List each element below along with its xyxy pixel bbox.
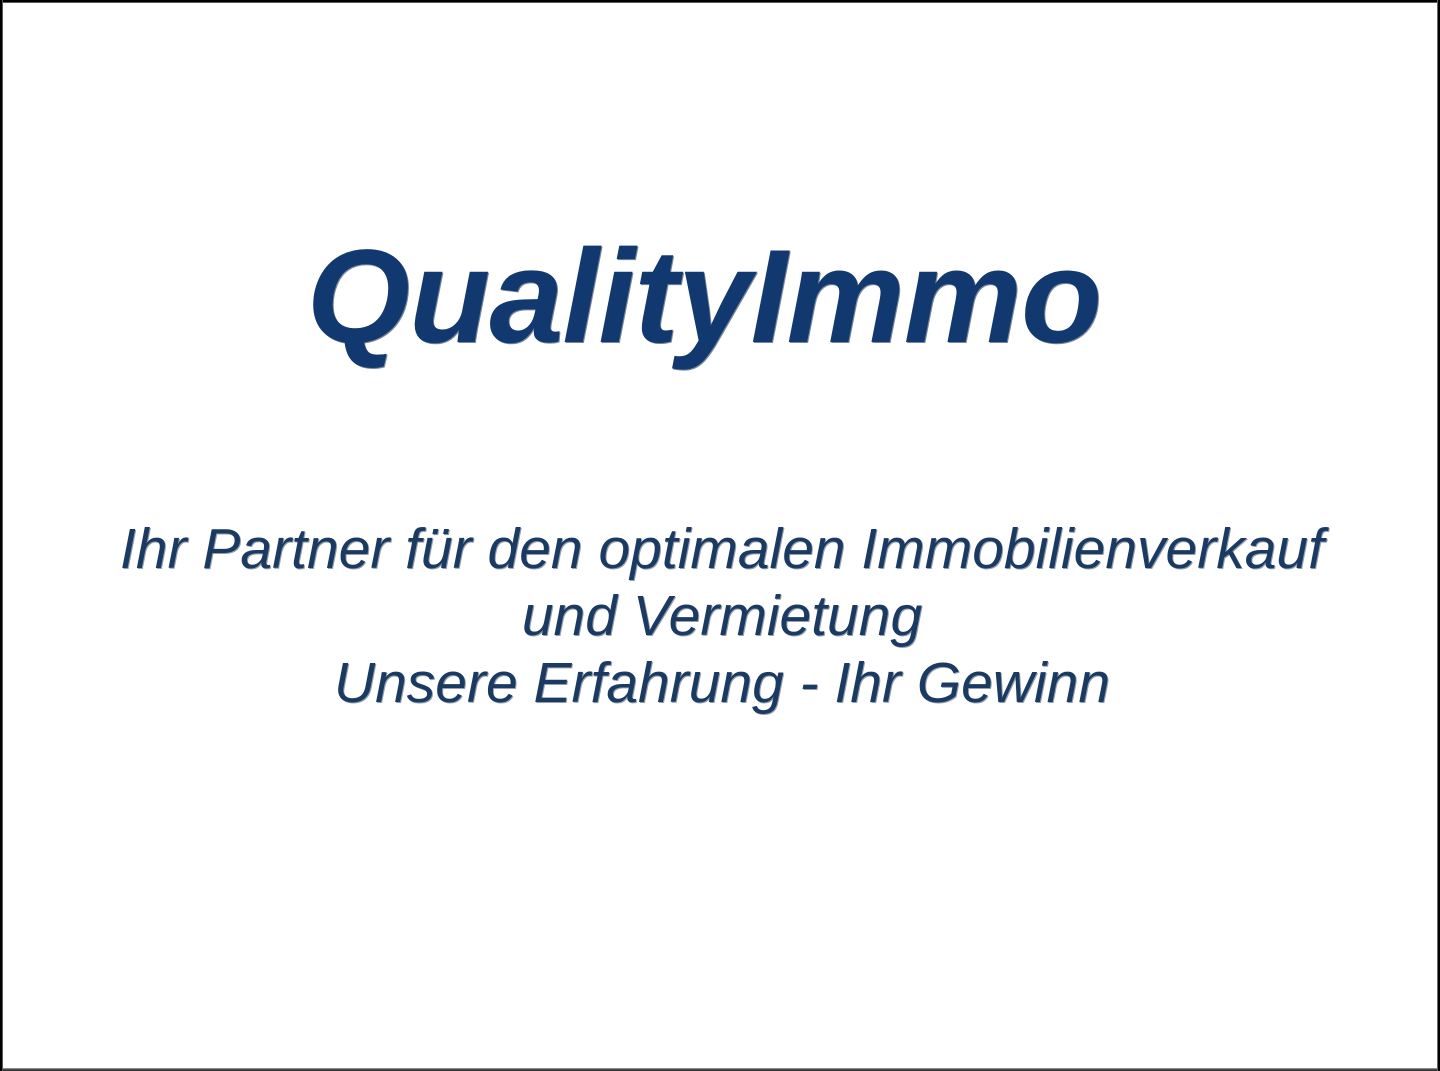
tagline-line-3: Unsere Erfahrung - Ihr Gewinn	[5, 650, 1439, 717]
brand-title: QualityImmo	[0, 231, 1421, 364]
tagline-block: Ihr Partner für den optimalen Immobilien…	[5, 516, 1439, 717]
tagline-line-2: und Vermietung	[5, 583, 1439, 650]
slide-content: QualityImmo Ihr Partner für den optimale…	[3, 3, 1437, 1068]
slide-canvas: QualityImmo Ihr Partner für den optimale…	[0, 0, 1440, 1071]
tagline-line-1: Ihr Partner für den optimalen Immobilien…	[5, 516, 1439, 583]
